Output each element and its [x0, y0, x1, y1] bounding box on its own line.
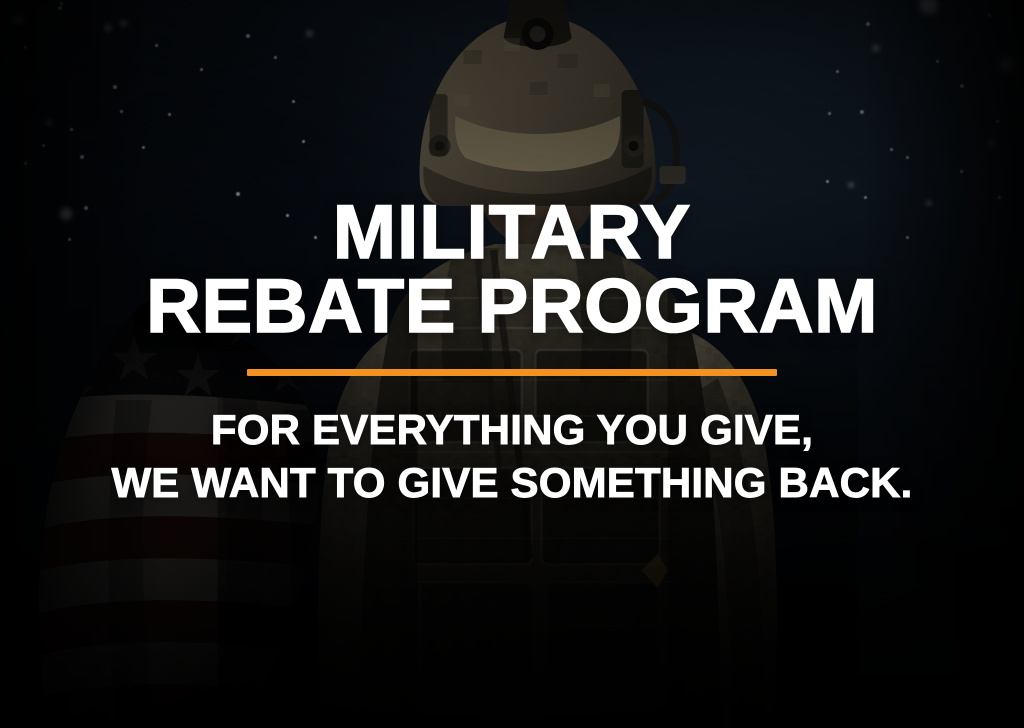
banner-content: MILITARY REBATE PROGRAM FOR EVERYTHING Y…: [0, 0, 1024, 728]
headline-line-1: MILITARY: [146, 196, 878, 270]
subheadline: FOR EVERYTHING YOU GIVE, WE WANT TO GIVE…: [111, 404, 912, 510]
subheadline-line-2: WE WANT TO GIVE SOMETHING BACK.: [111, 457, 912, 510]
page-title: MILITARY REBATE PROGRAM: [146, 196, 878, 343]
subheadline-line-1: FOR EVERYTHING YOU GIVE,: [111, 404, 912, 457]
headline-line-2: REBATE PROGRAM: [146, 270, 878, 344]
accent-divider: [247, 369, 777, 376]
military-rebate-banner: MILITARY REBATE PROGRAM FOR EVERYTHING Y…: [0, 0, 1024, 728]
